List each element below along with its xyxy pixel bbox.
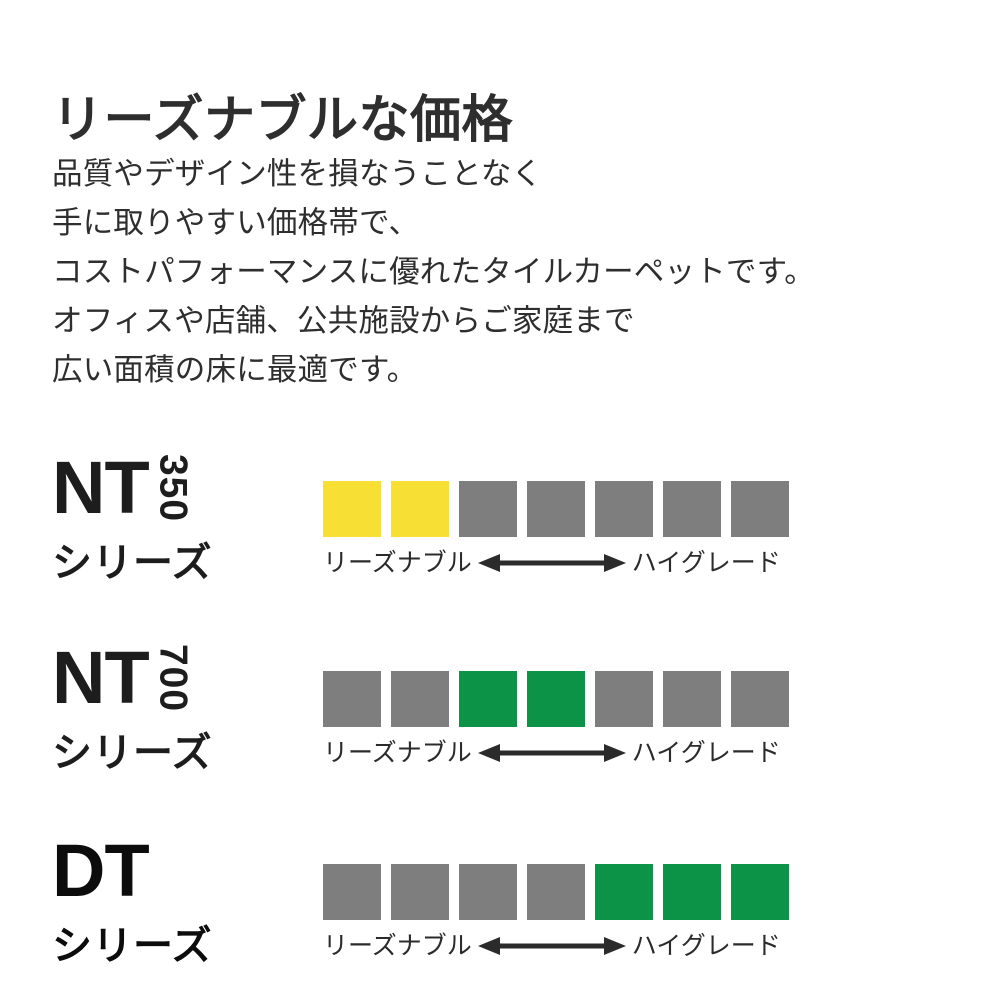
description-line: 手に取りやすい価格帯で、 [52, 199, 952, 248]
series-number: 350 [153, 454, 192, 522]
swatch-filled [391, 481, 449, 537]
series-number-rotated: 700 [152, 645, 194, 711]
series-code: DT [52, 838, 149, 904]
scale-high-label: ハイグレード [632, 934, 781, 959]
swatch-empty [459, 481, 517, 537]
series-suffix: シリーズ [52, 926, 302, 966]
swatch-empty [595, 671, 653, 727]
scale-caption: リーズナブル ハイグレード [323, 932, 789, 960]
description-line: オフィスや店舗、公共施設からご家庭まで [52, 297, 952, 346]
swatch-empty [663, 671, 721, 727]
swatch-filled [663, 864, 721, 920]
scale-low-label: リーズナブル [323, 551, 472, 576]
swatch-filled [527, 671, 585, 727]
series-number-rotated: 350 [152, 455, 194, 521]
grade-scale: リーズナブル ハイグレード [323, 481, 789, 577]
double-headed-arrow-icon [478, 935, 626, 957]
series-code: NT [52, 455, 149, 521]
double-headed-arrow-icon [478, 742, 626, 764]
description-line: コストパフォーマンスに優れたタイルカーペットです。 [52, 248, 952, 297]
swatch-empty [595, 481, 653, 537]
swatch-empty [731, 481, 789, 537]
scale-low-label: リーズナブル [323, 934, 472, 959]
series-suffix: シリーズ [52, 543, 302, 583]
swatch-strip [323, 481, 789, 537]
grade-scale: リーズナブル ハイグレード [323, 864, 789, 960]
scale-low-label: リーズナブル [323, 741, 472, 766]
series-code: NT [52, 645, 149, 711]
series-label-nt700: NT 700 シリーズ [52, 645, 302, 773]
series-suffix: シリーズ [52, 733, 302, 773]
scale-caption: リーズナブル ハイグレード [323, 549, 789, 577]
description-line: 広い面積の床に最適です。 [52, 346, 952, 395]
description-block: 品質やデザイン性を損なうことなく 手に取りやすい価格帯で、 コストパフォーマンス… [52, 150, 952, 395]
swatch-empty [391, 864, 449, 920]
series-number: 700 [153, 644, 192, 712]
swatch-empty [459, 864, 517, 920]
swatch-filled [323, 481, 381, 537]
page-title: リーズナブルな価格 [52, 92, 513, 148]
swatch-empty [663, 481, 721, 537]
swatch-empty [527, 481, 585, 537]
series-name-line: NT 350 [52, 455, 302, 527]
swatch-empty [391, 671, 449, 727]
grade-scale: リーズナブル ハイグレード [323, 671, 789, 767]
swatch-filled [731, 864, 789, 920]
scale-caption: リーズナブル ハイグレード [323, 739, 789, 767]
scale-high-label: ハイグレード [632, 551, 781, 576]
swatch-strip [323, 864, 789, 920]
swatch-empty [323, 864, 381, 920]
promo-panel: リーズナブルな価格 品質やデザイン性を損なうことなく 手に取りやすい価格帯で、 … [0, 0, 1000, 1000]
series-name-line: DT [52, 838, 302, 910]
swatch-empty [323, 671, 381, 727]
double-headed-arrow-icon [478, 552, 626, 574]
swatch-strip [323, 671, 789, 727]
series-label-nt350: NT 350 シリーズ [52, 455, 302, 583]
swatch-filled [595, 864, 653, 920]
series-number-rotated [152, 838, 194, 904]
series-label-dt: DT シリーズ [52, 838, 302, 966]
description-line: 品質やデザイン性を損なうことなく [52, 150, 952, 199]
swatch-empty [527, 864, 585, 920]
scale-high-label: ハイグレード [632, 741, 781, 766]
swatch-filled [459, 671, 517, 727]
series-name-line: NT 700 [52, 645, 302, 717]
swatch-empty [731, 671, 789, 727]
